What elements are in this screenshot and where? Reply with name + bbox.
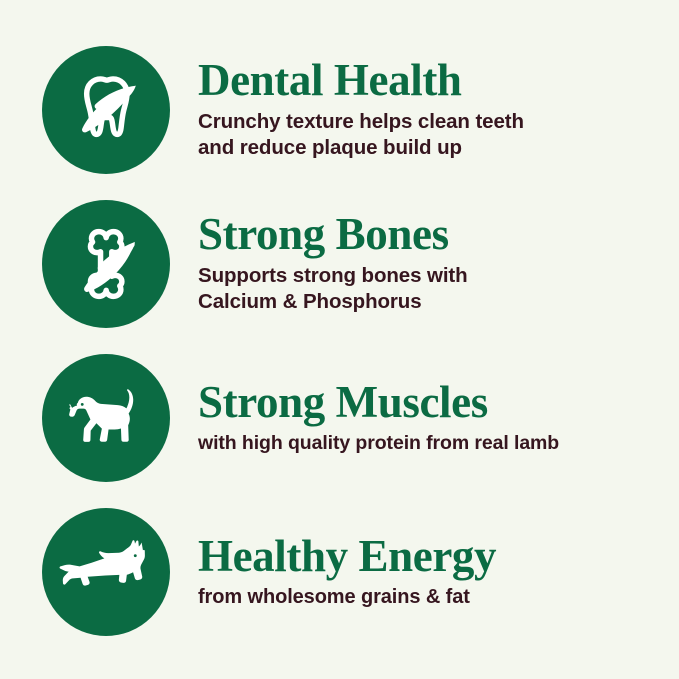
benefit-text-block: Healthy Energy from wholesome grains & f… [198, 508, 668, 636]
benefit-subtext-line: from wholesome grains & fat [198, 585, 668, 611]
benefit-subtext-line: with high quality protein from real lamb [198, 431, 679, 456]
benefit-subtext: with high quality protein from real lamb [198, 431, 679, 456]
benefit-text-block: Strong Bones Supports strong bones with … [198, 200, 668, 328]
benefit-text-block: Dental Health Crunchy texture helps clea… [198, 46, 668, 174]
benefit-heading: Healthy Energy [198, 534, 668, 580]
benefit-subtext-line: Crunchy texture helps clean teeth [198, 109, 668, 135]
benefit-heading: Dental Health [198, 58, 668, 104]
benefit-subtext: Supports strong bones with Calcium & Pho… [198, 263, 668, 315]
leaping-dog-icon [58, 524, 154, 620]
benefits-panel: Dental Health Crunchy texture helps clea… [0, 0, 679, 679]
bone-leaf-icon [64, 222, 148, 306]
standing-dog-icon-badge [42, 354, 170, 482]
benefit-subtext: Crunchy texture helps clean teeth and re… [198, 109, 668, 161]
benefit-subtext: from wholesome grains & fat [198, 585, 668, 611]
leaping-dog-icon-badge [42, 508, 170, 636]
standing-dog-icon [62, 374, 150, 462]
tooth-leaf-icon [64, 68, 148, 152]
bone-leaf-icon-badge [42, 200, 170, 328]
tooth-leaf-icon-badge [42, 46, 170, 174]
benefit-row: Strong Muscles with high quality protein… [0, 354, 679, 482]
benefit-subtext-line: Supports strong bones with [198, 263, 668, 289]
benefit-row: Strong Bones Supports strong bones with … [0, 200, 679, 328]
benefit-subtext-line: Calcium & Phosphorus [198, 289, 668, 315]
benefit-text-block: Strong Muscles with high quality protein… [198, 354, 679, 482]
benefit-heading: Strong Bones [198, 212, 668, 258]
benefit-heading: Strong Muscles [198, 380, 679, 426]
benefit-row: Dental Health Crunchy texture helps clea… [0, 46, 679, 174]
benefit-row: Healthy Energy from wholesome grains & f… [0, 508, 679, 636]
benefit-subtext-line: and reduce plaque build up [198, 135, 668, 161]
